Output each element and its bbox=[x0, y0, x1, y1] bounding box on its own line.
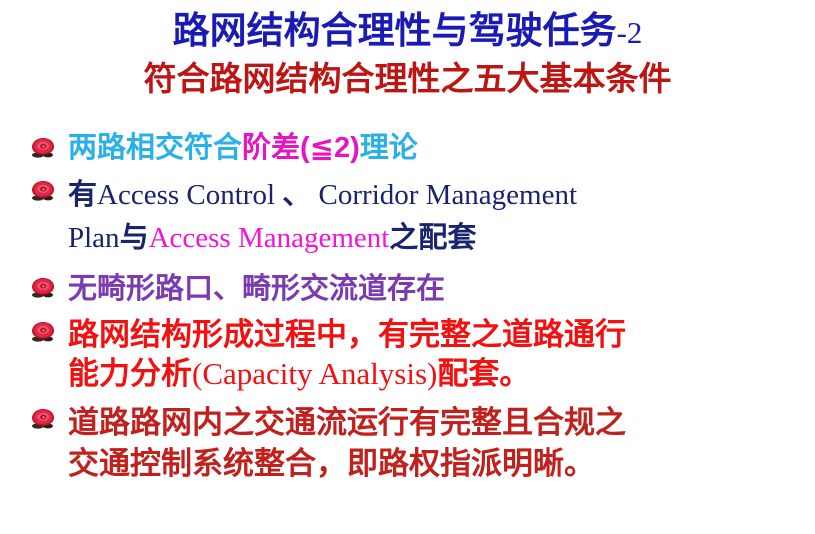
rose-icon bbox=[29, 406, 57, 430]
text-segment: 路网结构形成过程中，有完整之道路通行 bbox=[68, 317, 626, 352]
list-item-line: 道路路网内之交通流运行有完整且合规之 bbox=[68, 402, 815, 443]
text-segment: 阶差(≦2) bbox=[242, 132, 360, 164]
list-item-line: Plan与Access Management之配套 bbox=[68, 217, 815, 260]
text-segment: 两路相交符合 bbox=[68, 132, 242, 164]
text-segment: 理论 bbox=[360, 132, 418, 164]
slide-title-block: 路网结构合理性与驾驶任务-2 符合路网结构合理性之五大基本条件 bbox=[0, 8, 815, 100]
text-segment: Access Management bbox=[149, 222, 390, 254]
list-item: 有Access Control 、 Corridor Management Pl… bbox=[0, 174, 815, 260]
text-segment: 、 bbox=[282, 179, 311, 211]
list-item-line: 无畸形路口、畸形交流道存在 bbox=[68, 271, 815, 307]
text-segment: 有 bbox=[68, 179, 97, 211]
text-segment: Access Control bbox=[97, 179, 282, 211]
list-item-line: 两路相交符合阶差(≦2)理论 bbox=[68, 131, 815, 165]
list-item-line: 有Access Control 、 Corridor Management bbox=[68, 174, 815, 217]
text-segment: 与 bbox=[120, 222, 149, 254]
text-segment: 交通控制系统整合，即路权指派明晰。 bbox=[68, 446, 595, 481]
list-item-line: 交通控制系统整合，即路权指派明晰。 bbox=[68, 443, 815, 484]
list-item: 两路相交符合阶差(≦2)理论 bbox=[0, 131, 815, 165]
text-segment: 道路路网内之交通流运行有完整且合规之 bbox=[68, 405, 626, 440]
text-segment: 无畸形路口、畸形交流道存在 bbox=[68, 273, 445, 305]
text-segment: 之配套 bbox=[389, 222, 476, 254]
rose-icon bbox=[29, 275, 57, 299]
text-segment: (Capacity Analysis) bbox=[192, 356, 437, 391]
slide-canvas: 路网结构合理性与驾驶任务-2 符合路网结构合理性之五大基本条件 两路相交符合阶差… bbox=[0, 0, 815, 534]
page-subtitle: 符合路网结构合理性之五大基本条件 bbox=[0, 58, 815, 100]
list-item-line: 能力分析(Capacity Analysis)配套。 bbox=[68, 354, 815, 393]
text-segment: 配套。 bbox=[437, 356, 530, 391]
page-title-main: 路网结构合理性与驾驶任务 bbox=[173, 10, 617, 51]
rose-icon bbox=[29, 178, 57, 202]
text-segment: Corridor Management bbox=[311, 179, 577, 211]
bullet-list: 两路相交符合阶差(≦2)理论 有Access Control 、 Corrido… bbox=[0, 131, 815, 484]
page-title: 路网结构合理性与驾驶任务-2 bbox=[0, 8, 815, 56]
text-segment: 能力分析 bbox=[68, 356, 192, 391]
list-item: 道路路网内之交通流运行有完整且合规之 交通控制系统整合，即路权指派明晰。 bbox=[0, 402, 815, 484]
page-title-suffix: -2 bbox=[617, 15, 643, 50]
list-item: 路网结构形成过程中，有完整之道路通行 能力分析(Capacity Analysi… bbox=[0, 315, 815, 393]
rose-icon bbox=[29, 135, 57, 159]
list-item-line: 路网结构形成过程中，有完整之道路通行 bbox=[68, 315, 815, 354]
text-segment: Plan bbox=[68, 222, 120, 254]
rose-icon bbox=[29, 319, 57, 343]
list-item: 无畸形路口、畸形交流道存在 bbox=[0, 271, 815, 307]
